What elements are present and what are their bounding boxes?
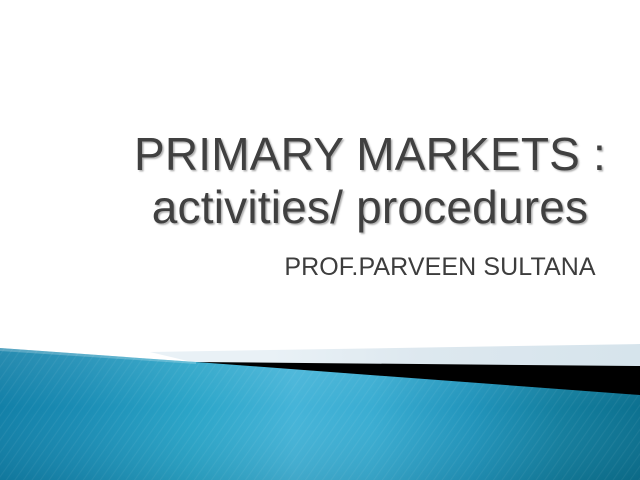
presentation-slide: PRIMARY MARKETS : activities/ procedures… — [0, 0, 640, 480]
slide-title: PRIMARY MARKETS : activities/ procedures — [40, 128, 640, 234]
decoration-teal-wave — [0, 348, 640, 480]
slide-decoration-wave — [0, 0, 640, 480]
decoration-black-wedge — [193, 362, 640, 397]
decoration-teal-edge-highlight — [0, 348, 196, 364]
title-line-1: PRIMARY MARKETS : — [40, 128, 640, 181]
decoration-light-band — [150, 344, 640, 368]
decoration-teal-texture — [0, 348, 640, 480]
slide-subtitle: PROF.PARVEEN SULTANA — [180, 252, 640, 282]
subtitle-author-text: PROF.PARVEEN SULTANA — [180, 252, 640, 282]
decoration-teal-shading — [0, 348, 640, 480]
title-line-2: activities/ procedures — [40, 181, 640, 234]
